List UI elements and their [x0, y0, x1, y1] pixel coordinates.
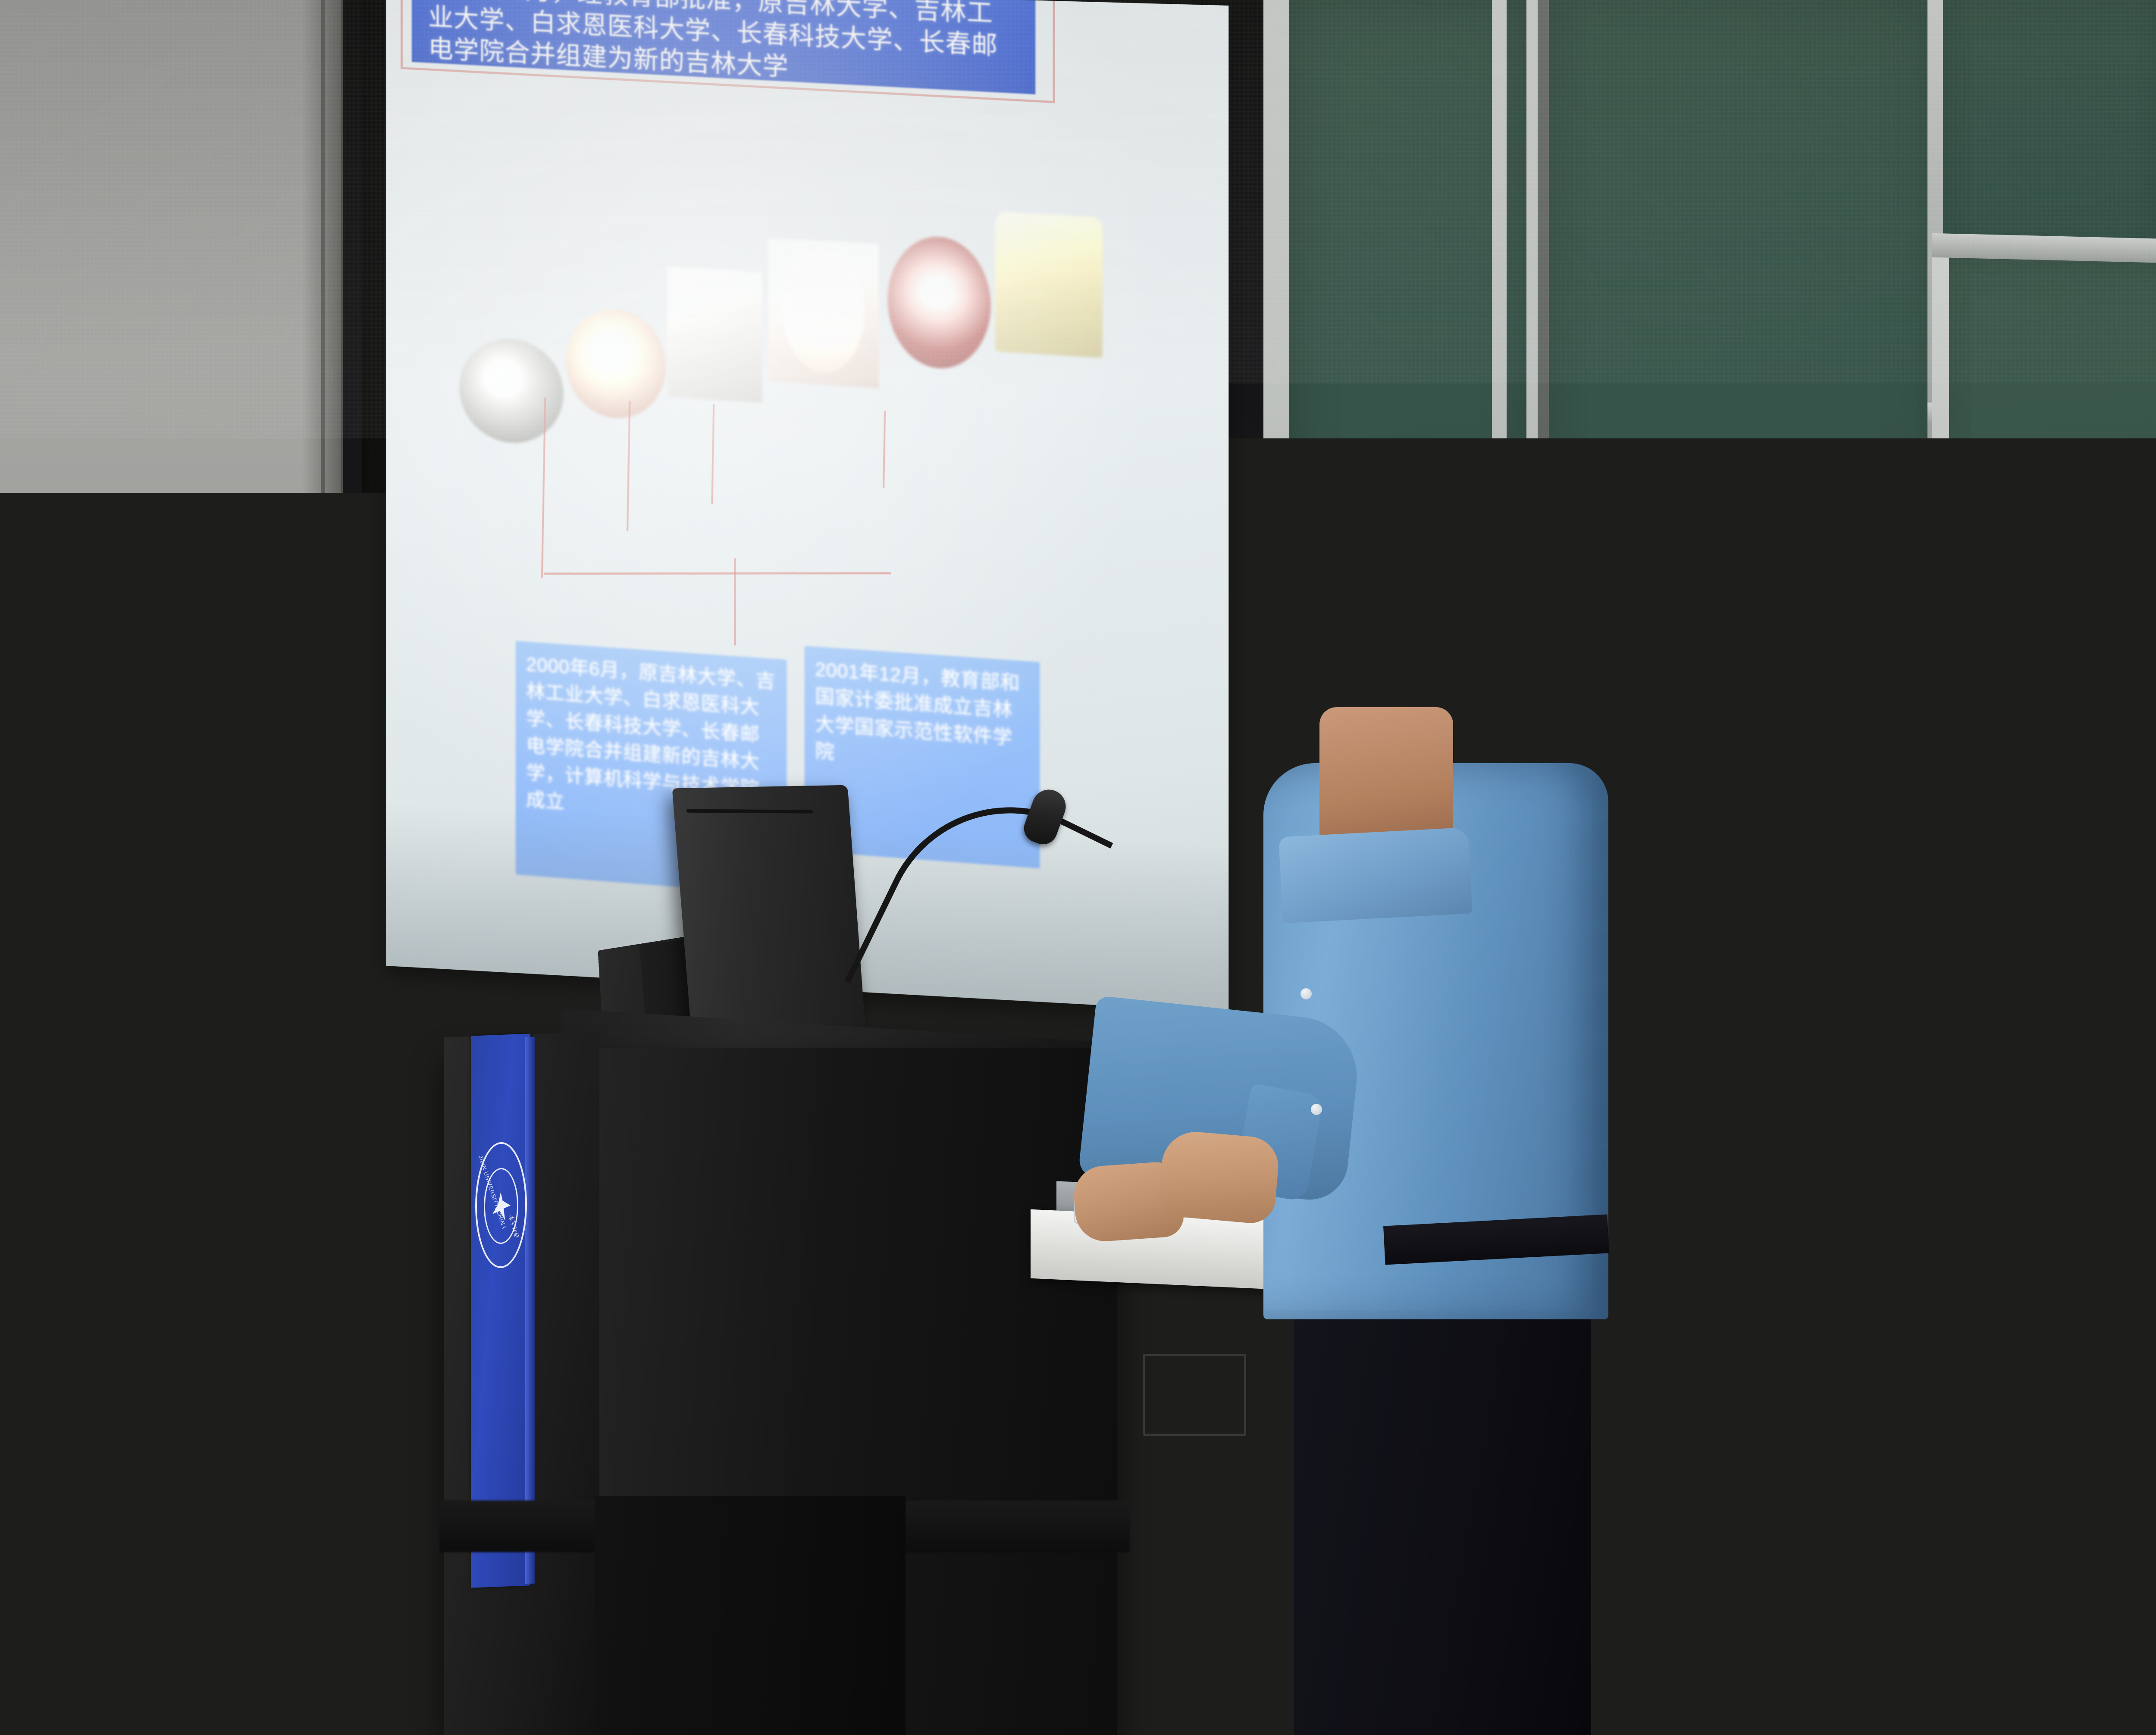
presenter-ear: [1345, 681, 1397, 752]
jilin-university-seal-logo: JILIN UNIVERSITY, CHINA 吉林大学: [473, 1140, 529, 1271]
presenter-hand-right: [1157, 1129, 1281, 1225]
chalkboard-divider-4: [1932, 254, 1949, 1044]
emblem-jilin-university-of-technology: [566, 307, 666, 421]
slide-emblem-row: [455, 106, 1125, 477]
presenter-chin-shadow: [1250, 787, 1341, 835]
presenter-collar: [1279, 827, 1473, 924]
radiator-cap: [0, 1090, 302, 1111]
shirt-button-1: [1300, 988, 1312, 999]
left-wood-panel: [302, 961, 440, 1397]
podium-base: [595, 1496, 906, 1735]
emblem-changchun-post-and-telecommunications-institute: [887, 234, 990, 372]
connector-line-horizontal: [544, 572, 891, 575]
office-chair-gas-column: [1867, 1651, 1949, 1735]
monitor-vent: [686, 809, 813, 813]
emblem-norman-bethune-university-of-medical-sciences: [667, 266, 762, 403]
emblem-jilin-university: [459, 336, 564, 446]
emblem-military-logistics-university: [995, 211, 1103, 358]
lecture-hall-scene: 2000年6月，经教育部批准，原吉林大学、吉林工业大学、白求恩医科大学、长春科技…: [0, 0, 2156, 1735]
shirt-button-2: [1311, 1104, 1322, 1115]
chalkboard-panel-4[interactable]: [1940, 251, 2156, 1047]
radiator-grill-icon: [0, 1152, 155, 1350]
connector-line-drop: [734, 558, 736, 645]
podium-access-panel[interactable]: [1143, 1354, 1246, 1436]
